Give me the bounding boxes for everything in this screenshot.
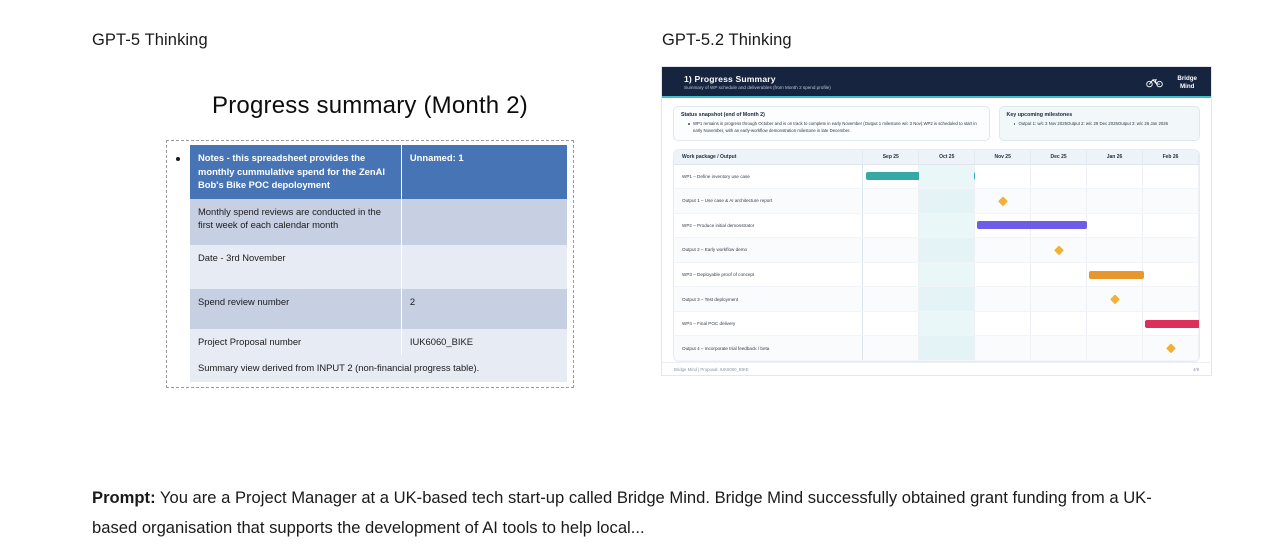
gantt-cell-dec25 bbox=[1031, 311, 1087, 336]
gantt-cell-dec25 bbox=[1031, 164, 1087, 189]
prompt-block: Prompt: You are a Project Manager at a U… bbox=[92, 483, 1182, 543]
gantt-cell-oct25 bbox=[919, 238, 975, 263]
gantt-cell-feb26 bbox=[1143, 262, 1199, 287]
gantt-cell-feb26 bbox=[1143, 336, 1199, 361]
gantt-col-header-dec25: Dec 25 bbox=[1031, 150, 1087, 164]
gantt-row: Output 1 – Use case & AI architecture re… bbox=[674, 189, 1199, 214]
row-label: Monthly spend reviews are conducted in t… bbox=[190, 199, 401, 245]
gantt-col-header-feb26: Feb 26 bbox=[1143, 150, 1199, 164]
gantt-cell-sep25 bbox=[863, 336, 919, 361]
key-milestones-list: Output 1: w/c 3 Nov 2025Output 2: w/c 29… bbox=[1007, 121, 1193, 128]
gantt-row: WP1 – Define inventory use case bbox=[674, 164, 1199, 189]
gantt-cell-dec25 bbox=[1031, 238, 1087, 263]
gantt-row: Output 2 – Early workflow demo bbox=[674, 238, 1199, 263]
gantt-cell-dec25 bbox=[1031, 262, 1087, 287]
gantt-cell-feb26 bbox=[1143, 311, 1199, 336]
gantt-row-label: Output 1 – Use case & AI architecture re… bbox=[674, 189, 863, 214]
table-row: Date - 3rd November bbox=[190, 245, 568, 289]
gantt-cell-jan26 bbox=[1087, 213, 1143, 238]
left-slide-panel: Progress summary (Month 2) Notes - this … bbox=[166, 92, 574, 388]
gantt-cell-jan26 bbox=[1087, 262, 1143, 287]
right-slide-panel: 1) Progress Summary Summary of WP schedu… bbox=[661, 66, 1212, 376]
brand-line-1: Bridge bbox=[1177, 75, 1197, 83]
gantt-row: WP3 – Deployable proof of concept bbox=[674, 262, 1199, 287]
gantt-row-label: WP3 – Deployable proof of concept bbox=[674, 262, 863, 287]
gantt-cell-dec25 bbox=[1031, 336, 1087, 361]
gantt-row: Output 4 – Incorporate trial feedback / … bbox=[674, 336, 1199, 361]
brand-logo: Bridge Mind bbox=[1177, 75, 1197, 91]
slide-header-title: 1) Progress Summary bbox=[684, 74, 1146, 84]
gantt-cell-nov25 bbox=[975, 238, 1031, 263]
slide-header-brand-group: Bridge Mind bbox=[1146, 75, 1197, 91]
slide-header-subtitle: Summary of WP schedule and deliverables … bbox=[684, 85, 1146, 91]
table-header-unnamed: Unnamed: 1 bbox=[401, 145, 567, 199]
gantt-cell-oct25 bbox=[919, 164, 975, 189]
callout-group: Status snapshot (end of Month 2) WP1 rem… bbox=[673, 106, 1200, 141]
table-row: Project Proposal number IUK6060_BIKE bbox=[190, 329, 568, 355]
gantt-row-label: Output 2 – Early workflow demo bbox=[674, 238, 863, 263]
row-label: Date - 3rd November bbox=[190, 245, 401, 289]
gantt-cell-jan26 bbox=[1087, 189, 1143, 214]
gantt-milestone-diamond bbox=[1110, 294, 1119, 303]
spend-summary-table: Notes - this spreadsheet provides the mo… bbox=[190, 145, 568, 382]
gantt-cell-feb26 bbox=[1143, 238, 1199, 263]
gantt-col-header-label: Work package / Output bbox=[674, 150, 863, 164]
gantt-cell-oct25 bbox=[919, 262, 975, 287]
gantt-cell-jan26 bbox=[1087, 238, 1143, 263]
gantt-cell-jan26 bbox=[1087, 287, 1143, 312]
caption-left-model: GPT-5 Thinking bbox=[92, 31, 208, 50]
gantt-row-label: WP4 – Final POC delivery bbox=[674, 311, 863, 336]
brand-line-2: Mind bbox=[1177, 83, 1197, 91]
gantt-cell-oct25 bbox=[919, 287, 975, 312]
gantt-row-label: Output 4 – Incorporate trial feedback / … bbox=[674, 336, 863, 361]
gantt-cell-sep25 bbox=[863, 262, 919, 287]
slide-header-texts: 1) Progress Summary Summary of WP schedu… bbox=[684, 74, 1146, 92]
table-note-text: Summary view derived from INPUT 2 (non-f… bbox=[190, 355, 568, 381]
prompt-text: You are a Project Manager at a UK-based … bbox=[92, 488, 1152, 537]
row-value bbox=[401, 245, 567, 289]
gantt-cell-sep25 bbox=[863, 287, 919, 312]
gantt-cell-feb26 bbox=[1143, 213, 1199, 238]
gantt-cell-oct25 bbox=[919, 336, 975, 361]
status-snapshot-callout: Status snapshot (end of Month 2) WP1 rem… bbox=[673, 106, 990, 141]
gantt-head: Work package / Output Sep 25 Oct 25 Nov … bbox=[674, 150, 1199, 164]
table-note-row: Summary view derived from INPUT 2 (non-f… bbox=[190, 355, 568, 381]
gantt-cell-jan26 bbox=[1087, 336, 1143, 361]
gantt-row: WP2 – Produce initial demonstrator bbox=[674, 213, 1199, 238]
gantt-col-header-jan26: Jan 26 bbox=[1087, 150, 1143, 164]
gantt-bar bbox=[1145, 320, 1200, 328]
gantt-bar bbox=[1089, 271, 1144, 279]
table-row: Spend review number 2 bbox=[190, 289, 568, 329]
list-item: WP1 remains in progress through October … bbox=[688, 121, 982, 134]
gantt-cell-nov25 bbox=[975, 287, 1031, 312]
bicycle-icon bbox=[1146, 77, 1163, 88]
gantt-milestone-diamond bbox=[1054, 245, 1063, 254]
gantt-col-header-oct25: Oct 25 bbox=[919, 150, 975, 164]
row-label: Spend review number bbox=[190, 289, 401, 329]
row-label: Project Proposal number bbox=[190, 329, 401, 355]
status-snapshot-list: WP1 remains in progress through October … bbox=[681, 121, 982, 134]
gantt-chart: Work package / Output Sep 25 Oct 25 Nov … bbox=[673, 149, 1200, 362]
slide-body: Status snapshot (end of Month 2) WP1 rem… bbox=[662, 98, 1211, 362]
gantt-row-label: Output 3 – Test deployment bbox=[674, 287, 863, 312]
gantt-cell-nov25 bbox=[975, 164, 1031, 189]
gantt-cell-oct25 bbox=[919, 213, 975, 238]
list-item: Output 1: w/c 3 Nov 2025Output 2: w/c 29… bbox=[1014, 121, 1193, 128]
key-milestones-title: Key upcoming milestones bbox=[1007, 112, 1193, 118]
gantt-cell-dec25 bbox=[1031, 189, 1087, 214]
status-snapshot-title: Status snapshot (end of Month 2) bbox=[681, 112, 982, 118]
gantt-cell-jan26 bbox=[1087, 164, 1143, 189]
gantt-row-label: WP2 – Produce initial demonstrator bbox=[674, 213, 863, 238]
bullet-dot-icon bbox=[176, 157, 180, 161]
gantt-cell-nov25 bbox=[975, 213, 1031, 238]
gantt-col-header-sep25: Sep 25 bbox=[863, 150, 919, 164]
page-root: GPT-5 Thinking GPT-5.2 Thinking Progress… bbox=[0, 0, 1268, 550]
gantt-row-label: WP1 – Define inventory use case bbox=[674, 164, 863, 189]
gantt-cell-feb26 bbox=[1143, 189, 1199, 214]
gantt-row: Output 3 – Test deployment bbox=[674, 287, 1199, 312]
gantt-cell-sep25 bbox=[863, 164, 919, 189]
gantt-table: Work package / Output Sep 25 Oct 25 Nov … bbox=[674, 150, 1199, 361]
gantt-cell-nov25 bbox=[975, 262, 1031, 287]
left-slide-table-container: Notes - this spreadsheet provides the mo… bbox=[166, 140, 574, 388]
footer-proposal-text: Bridge Mind | Proposal: IUK6060_BIKE bbox=[674, 367, 749, 372]
gantt-milestone-diamond bbox=[1166, 344, 1175, 353]
row-value: 2 bbox=[401, 289, 567, 329]
table-row: Monthly spend reviews are conducted in t… bbox=[190, 199, 568, 245]
gantt-cell-sep25 bbox=[863, 311, 919, 336]
caption-right-model: GPT-5.2 Thinking bbox=[662, 31, 792, 50]
left-slide-title: Progress summary (Month 2) bbox=[166, 92, 574, 120]
gantt-header-row: Work package / Output Sep 25 Oct 25 Nov … bbox=[674, 150, 1199, 164]
gantt-cell-dec25 bbox=[1031, 213, 1087, 238]
gantt-cell-nov25 bbox=[975, 189, 1031, 214]
gantt-cell-dec25 bbox=[1031, 287, 1087, 312]
table-header-row: Notes - this spreadsheet provides the mo… bbox=[190, 145, 568, 199]
row-value: IUK6060_BIKE bbox=[401, 329, 567, 355]
row-value bbox=[401, 199, 567, 245]
gantt-cell-nov25 bbox=[975, 336, 1031, 361]
prompt-label: Prompt: bbox=[92, 488, 156, 507]
gantt-cell-feb26 bbox=[1143, 164, 1199, 189]
gantt-body: WP1 – Define inventory use caseOutput 1 … bbox=[674, 164, 1199, 360]
gantt-row: WP4 – Final POC delivery bbox=[674, 311, 1199, 336]
gantt-cell-sep25 bbox=[863, 213, 919, 238]
slide-footer: Bridge Mind | Proposal: IUK6060_BIKE 4/9 bbox=[662, 362, 1211, 375]
gantt-cell-sep25 bbox=[863, 238, 919, 263]
gantt-cell-feb26 bbox=[1143, 287, 1199, 312]
table-header-notes: Notes - this spreadsheet provides the mo… bbox=[190, 145, 401, 199]
slide-header: 1) Progress Summary Summary of WP schedu… bbox=[662, 67, 1211, 98]
gantt-cell-sep25 bbox=[863, 189, 919, 214]
key-milestones-callout: Key upcoming milestones Output 1: w/c 3 … bbox=[999, 106, 1201, 141]
gantt-milestone-diamond bbox=[998, 196, 1007, 205]
gantt-cell-jan26 bbox=[1087, 311, 1143, 336]
gantt-cell-nov25 bbox=[975, 311, 1031, 336]
gantt-col-header-nov25: Nov 25 bbox=[975, 150, 1031, 164]
gantt-cell-oct25 bbox=[919, 189, 975, 214]
footer-page-number: 4/9 bbox=[1193, 367, 1199, 372]
gantt-cell-oct25 bbox=[919, 311, 975, 336]
